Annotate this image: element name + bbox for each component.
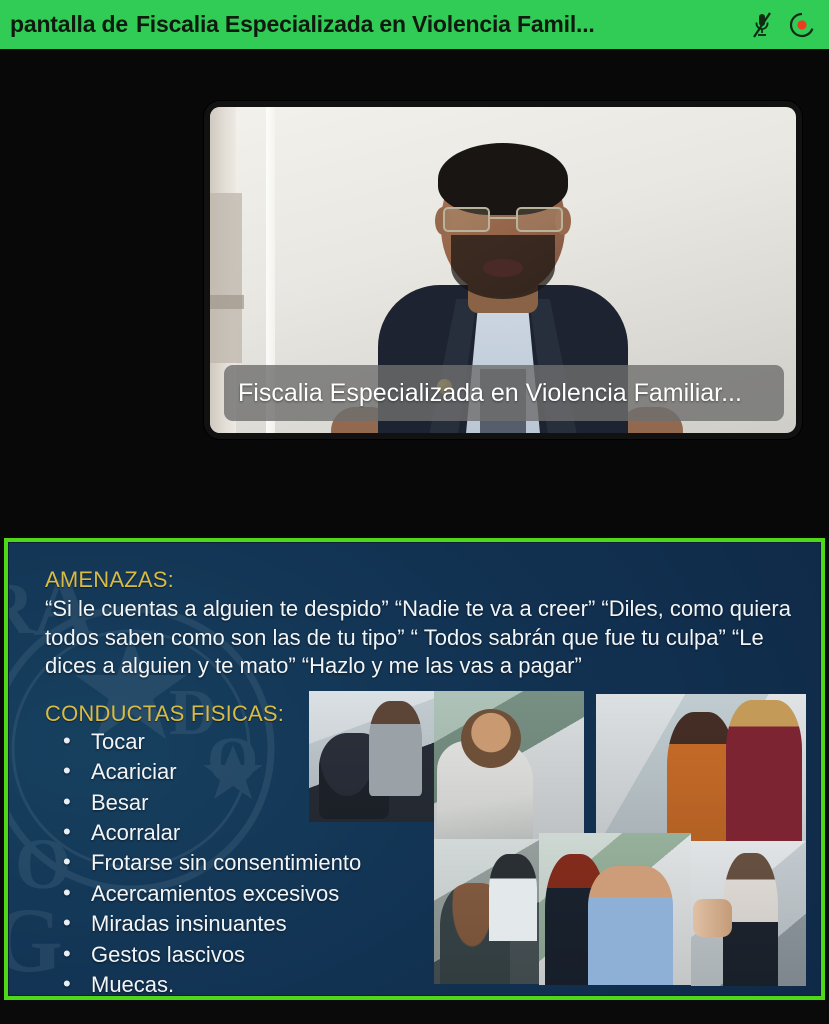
microphone-muted-icon[interactable] — [747, 9, 777, 41]
screen-share-notification-bar: pantalla deFiscalia Especializada en Vio… — [0, 0, 829, 49]
glasses-bridge — [490, 217, 516, 219]
photo-laptop-shoulder-touch — [539, 833, 691, 985]
video-stage: Fiscalia Especializada en Violencia Fami… — [0, 49, 829, 536]
lens-left — [443, 207, 490, 232]
photo-desk-pointing — [691, 841, 806, 986]
photo-shoulder-touch-men — [434, 839, 539, 984]
shared-slide: R A D O O G AMENAZAS: “Si le cuentas a a… — [8, 542, 821, 996]
screen-share-source: Fiscalia Especializada en Violencia Fami… — [136, 11, 595, 37]
eyeglasses-icon — [441, 207, 565, 233]
photo-shelf-approach — [434, 691, 584, 839]
amenazas-quotes: “Si le cuentas a alguien te despido” “Na… — [45, 595, 792, 681]
screen-share-prefix: pantalla de — [10, 11, 128, 37]
participant-name-overlay: Fiscalia Especializada en Violencia Fami… — [224, 365, 784, 421]
screen-root: pantalla deFiscalia Especializada en Vio… — [0, 0, 829, 1024]
notification-bar-actions — [747, 9, 821, 41]
section-title-amenazas: AMENAZAS: — [45, 567, 792, 593]
lens-right — [516, 207, 563, 232]
participant-video-tile[interactable]: Fiscalia Especializada en Violencia Fami… — [204, 101, 802, 439]
video-feed: Fiscalia Especializada en Violencia Fami… — [210, 107, 796, 433]
recording-indicator-icon[interactable] — [787, 9, 817, 41]
shared-slide-frame: R A D O O G AMENAZAS: “Si le cuentas a a… — [4, 538, 825, 1000]
photo-collage — [309, 691, 819, 991]
screen-share-title: pantalla deFiscalia Especializada en Vio… — [10, 11, 747, 38]
photo-library-cornering — [596, 694, 806, 846]
participant-name-text: Fiscalia Especializada en Violencia Fami… — [238, 379, 742, 408]
photo-office-tie-pull — [309, 691, 434, 822]
mouth — [483, 259, 523, 277]
hair — [438, 143, 568, 215]
